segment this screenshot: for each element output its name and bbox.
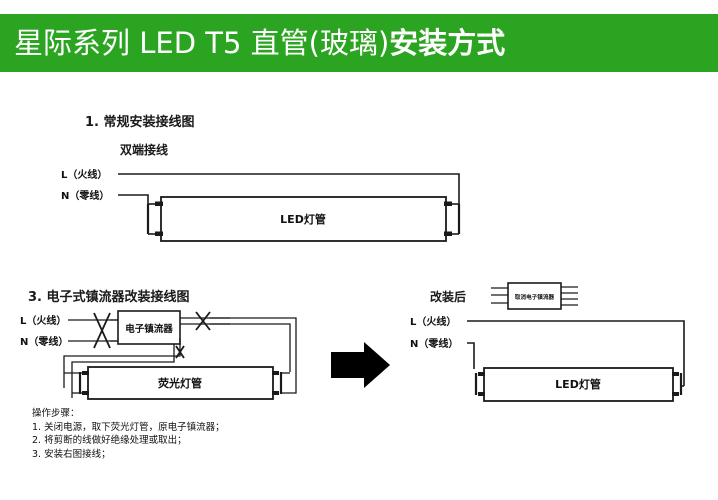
right-arrow-shape bbox=[331, 342, 390, 388]
section1-subtitle: 双端接线 bbox=[120, 141, 168, 158]
section3-title: 3. 电子式镇流器改装接线图 bbox=[28, 286, 190, 305]
label-live-after: L（火线） bbox=[410, 315, 456, 328]
electronic-ballast-box bbox=[118, 311, 180, 344]
wire-out-top-to-right-cap bbox=[210, 318, 296, 386]
page-title: 星际系列 LED T5 直管(玻璃)安装方式 bbox=[0, 29, 505, 58]
tube1-pin-left-bottom bbox=[155, 232, 163, 237]
label-removed-ballast: 取消电子镇流器 bbox=[515, 293, 555, 301]
cut-mark-output-stroke-2 bbox=[196, 312, 210, 330]
fluor-pin-left-top bbox=[82, 371, 89, 375]
label-led-tube-2: LED灯管 bbox=[555, 377, 601, 391]
wire-neutral-after bbox=[467, 343, 474, 369]
tube2-pin-left-bottom bbox=[478, 392, 485, 396]
operation-step-3: 3. 安装右图接线； bbox=[32, 448, 225, 462]
right-arrow-icon bbox=[331, 342, 390, 388]
after-modification-label: 改装后 bbox=[430, 288, 466, 305]
tube2-pin-right-top bbox=[672, 372, 679, 376]
fluor-right-lead-bottom bbox=[281, 386, 296, 393]
operation-steps-heading: 操作步骤： bbox=[32, 407, 225, 421]
diagram-ballast-retrofit: 电子镇流器 荧光灯管 bbox=[20, 311, 296, 399]
section1-title: 1. 常规安装接线图 bbox=[85, 111, 195, 130]
operation-step-1: 1. 关闭电源，取下荧光灯管，原电子镇流器； bbox=[32, 421, 225, 435]
wire-ballast-bottom-1 bbox=[64, 338, 180, 388]
cut-mark-input bbox=[94, 313, 110, 348]
label-live-1: L（火线） bbox=[61, 168, 107, 181]
fluorescent-tube bbox=[88, 367, 273, 399]
tube2-pin-left-top bbox=[478, 372, 485, 376]
removed-ballast-box bbox=[508, 283, 561, 309]
label-live-3: L（火线） bbox=[20, 314, 66, 327]
wire-out-top2-to-right-cap bbox=[210, 324, 290, 372]
operation-step-2: 2. 将剪断的线做好绝缘处理或取出； bbox=[32, 434, 225, 448]
diagram-standard-wiring: L（火线） N（零线） LED灯管 bbox=[61, 168, 459, 241]
tube1-pin-left-top bbox=[155, 202, 163, 207]
cut-mark-input-stroke-2 bbox=[94, 313, 110, 348]
wire-live-1 bbox=[118, 174, 459, 228]
cut-mark-output-stroke-1 bbox=[196, 312, 210, 330]
cut-mark-bb-stroke-1 bbox=[176, 346, 184, 358]
led-tube-1 bbox=[161, 197, 446, 241]
wire-neutral-1 bbox=[118, 195, 148, 224]
cut-mark-output bbox=[196, 312, 210, 330]
cut-mark-input-stroke-1 bbox=[94, 313, 110, 348]
header-band: 星际系列 LED T5 直管(玻璃)安装方式 bbox=[0, 14, 718, 72]
label-neutral-1: N（零线） bbox=[61, 189, 109, 202]
tube1-pin-right-bottom bbox=[444, 232, 452, 237]
label-electronic-ballast: 电子镇流器 bbox=[125, 323, 173, 335]
slide-page: 星际系列 LED T5 直管(玻璃)安装方式 1. 常规安装接线图 双端接线 3… bbox=[0, 0, 718, 500]
label-neutral-3: N（零线） bbox=[20, 335, 68, 348]
cut-mark-bb-stroke-2 bbox=[176, 346, 184, 358]
label-led-tube-1: LED灯管 bbox=[280, 212, 326, 226]
fluor-pin-right-top bbox=[272, 371, 279, 375]
page-title-bold: 安装方式 bbox=[389, 26, 505, 60]
led-tube-2 bbox=[484, 368, 673, 401]
operation-steps: 操作步骤： 1. 关闭电源，取下荧光灯管，原电子镇流器； 2. 将剪断的线做好绝… bbox=[32, 407, 225, 461]
label-neutral-after: N（零线） bbox=[410, 337, 458, 350]
page-title-regular: 星际系列 LED T5 直管(玻璃) bbox=[14, 26, 389, 60]
tube2-pin-right-bottom bbox=[672, 392, 679, 396]
cut-mark-ballast-bottom bbox=[176, 346, 184, 358]
label-fluorescent-tube: 荧光灯管 bbox=[158, 376, 202, 390]
fluor-pin-right-bottom bbox=[272, 391, 279, 395]
wire-ballast-bottom-2 bbox=[72, 344, 174, 398]
wire-live-after bbox=[467, 321, 684, 386]
tube1-pin-right-top bbox=[444, 202, 452, 207]
fluor-pin-left-bottom bbox=[82, 391, 89, 395]
